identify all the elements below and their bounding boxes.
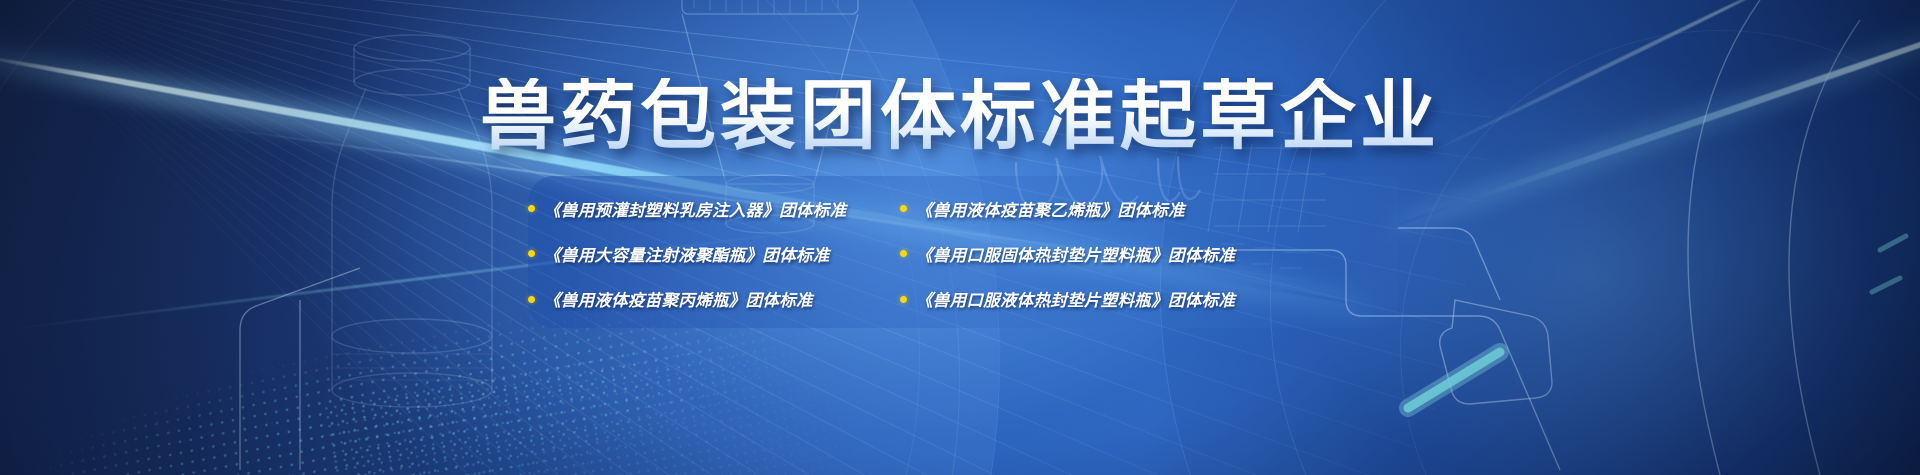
page-title: 兽药包装团体标准起草企业 bbox=[0, 78, 1920, 154]
halftone-dot-field-secondary bbox=[321, 308, 899, 475]
standards-list: 《兽用预灌封塑料乳房注入器》团体标准 《兽用液体疫苗聚乙烯瓶》团体标准 《兽用大… bbox=[528, 186, 1408, 322]
bullet-icon bbox=[528, 296, 535, 303]
list-item: 《兽用液体疫苗聚丙烯瓶》团体标准 bbox=[528, 287, 900, 311]
standard-label: 《兽用大容量注射液聚酯瓶》团体标准 bbox=[544, 242, 830, 266]
list-item: 《兽用液体疫苗聚乙烯瓶》团体标准 bbox=[900, 197, 1408, 221]
standard-label: 《兽用液体疫苗聚乙烯瓶》团体标准 bbox=[916, 197, 1185, 221]
list-item: 《兽用预灌封塑料乳房注入器》团体标准 bbox=[528, 197, 900, 221]
bullet-icon bbox=[528, 250, 535, 257]
bullet-icon bbox=[528, 205, 535, 212]
list-item: 《兽用口服液体热封垫片塑料瓶》团体标准 bbox=[900, 287, 1408, 311]
bullet-icon bbox=[900, 205, 907, 212]
standard-label: 《兽用液体疫苗聚丙烯瓶》团体标准 bbox=[544, 287, 813, 311]
standard-label: 《兽用口服液体热封垫片塑料瓶》团体标准 bbox=[916, 287, 1235, 311]
standard-label: 《兽用预灌封塑料乳房注入器》团体标准 bbox=[544, 197, 846, 221]
list-item: 《兽用大容量注射液聚酯瓶》团体标准 bbox=[528, 242, 900, 266]
list-item: 《兽用口服固体热封垫片塑料瓶》团体标准 bbox=[900, 242, 1408, 266]
bullet-icon bbox=[900, 250, 907, 257]
promo-banner: 兽药包装团体标准起草企业 《兽用预灌封塑料乳房注入器》团体标准 《兽用液体疫苗聚… bbox=[0, 0, 1920, 475]
standard-label: 《兽用口服固体热封垫片塑料瓶》团体标准 bbox=[916, 242, 1235, 266]
bullet-icon bbox=[900, 296, 907, 303]
